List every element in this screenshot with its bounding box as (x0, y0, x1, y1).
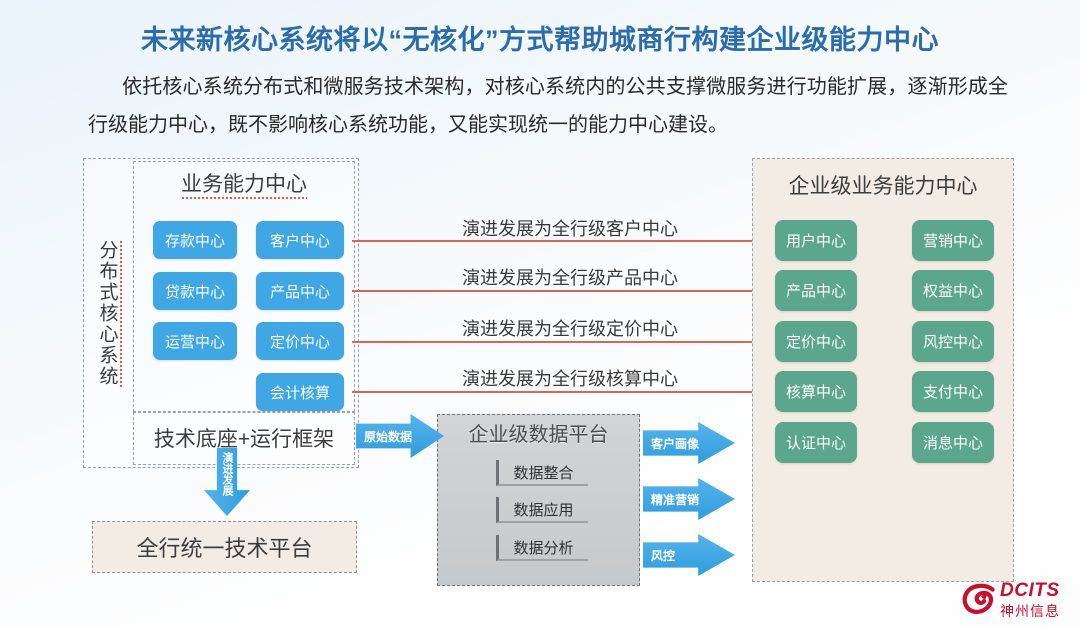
flow-arrow-pricing (352, 341, 764, 343)
subtitle-text: 依托核心系统分布式和微服务技术架构，对核心系统内的公共支撑微服务进行功能扩展，逐… (88, 76, 1008, 136)
evolution-arrow-label: 演进发展 (219, 448, 235, 496)
core-box-deposit[interactable]: 存款中心 (153, 221, 237, 259)
biz-title-text: 业务能力中心 (181, 173, 307, 199)
enterprise-capability-center-title: 企业级业务能力中心 (752, 170, 1014, 200)
ent-box-auth[interactable]: 认证中心 (775, 422, 857, 463)
core-box-pricing[interactable]: 定价中心 (256, 322, 344, 360)
core-box-loan[interactable]: 贷款中心 (153, 272, 237, 310)
dp-item-application[interactable]: 数据应用 (496, 497, 588, 523)
ent-box-message[interactable]: 消息中心 (912, 422, 994, 463)
tech-base-title: 技术底座+运行框架 (133, 423, 355, 453)
ent-box-risk[interactable]: 风控中心 (912, 321, 994, 362)
output-arrow-customer-profile: 客户画像 (643, 422, 735, 464)
output-arrow-risk-control: 风控 (643, 534, 735, 576)
dcits-logo: DCITS 神州信息 (962, 580, 1074, 622)
page-title: 未来新核心系统将以“无核化”方式帮助城商行构建企业级能力中心 (0, 18, 1080, 57)
core-box-operation[interactable]: 运营中心 (153, 322, 237, 360)
ent-box-accounting[interactable]: 核算中心 (775, 371, 857, 412)
slide-canvas: 未来新核心系统将以“无核化”方式帮助城商行构建企业级能力中心 依托核心系统分布式… (0, 0, 1080, 628)
enterprise-data-platform-title: 企业级数据平台 (437, 418, 640, 447)
ent-box-pricing[interactable]: 定价中心 (775, 321, 857, 362)
ent-box-rights[interactable]: 权益中心 (912, 270, 994, 311)
output-arrow-precision-marketing: 精准营销 (643, 478, 735, 520)
flow-label-pricing: 演进发展为全行级定价中心 (405, 315, 735, 341)
flow-label-product: 演进发展为全行级产品中心 (405, 264, 735, 290)
dp-item-integration[interactable]: 数据整合 (496, 460, 588, 486)
distributed-core-system-label: 分布式核心系统 (88, 200, 128, 426)
core-label-text: 分布式核心系统 (95, 240, 122, 387)
dp-item-analysis[interactable]: 数据分析 (496, 535, 588, 561)
dcits-swirl-icon (962, 582, 996, 616)
flow-arrow-product (352, 290, 764, 292)
flow-arrow-accounting (352, 391, 764, 393)
core-box-accounting[interactable]: 会计核算 (256, 373, 344, 411)
flow-label-accounting: 演进发展为全行级核算中心 (405, 365, 735, 391)
logo-brand-en: DCITS (1000, 580, 1060, 602)
raw-data-arrow: 原始数据 (356, 414, 444, 458)
unified-tech-platform-label: 全行统一技术平台 (136, 531, 312, 563)
ent-box-product[interactable]: 产品中心 (775, 270, 857, 311)
business-capability-center-title: 业务能力中心 (133, 168, 355, 198)
flow-label-customer: 演进发展为全行级客户中心 (405, 215, 735, 241)
page-subtitle: 依托核心系统分布式和微服务技术架构，对核心系统内的公共支撑微服务进行功能扩展，逐… (88, 68, 1008, 144)
core-box-customer[interactable]: 客户中心 (256, 221, 344, 259)
unified-tech-platform-box: 全行统一技术平台 (92, 521, 357, 573)
ent-box-marketing[interactable]: 营销中心 (912, 220, 994, 261)
ent-box-user[interactable]: 用户中心 (775, 220, 857, 261)
logo-brand-cn: 神州信息 (1000, 601, 1060, 621)
ent-box-payment[interactable]: 支付中心 (912, 371, 994, 412)
flow-arrow-customer (352, 240, 764, 242)
core-box-product[interactable]: 产品中心 (256, 272, 344, 310)
